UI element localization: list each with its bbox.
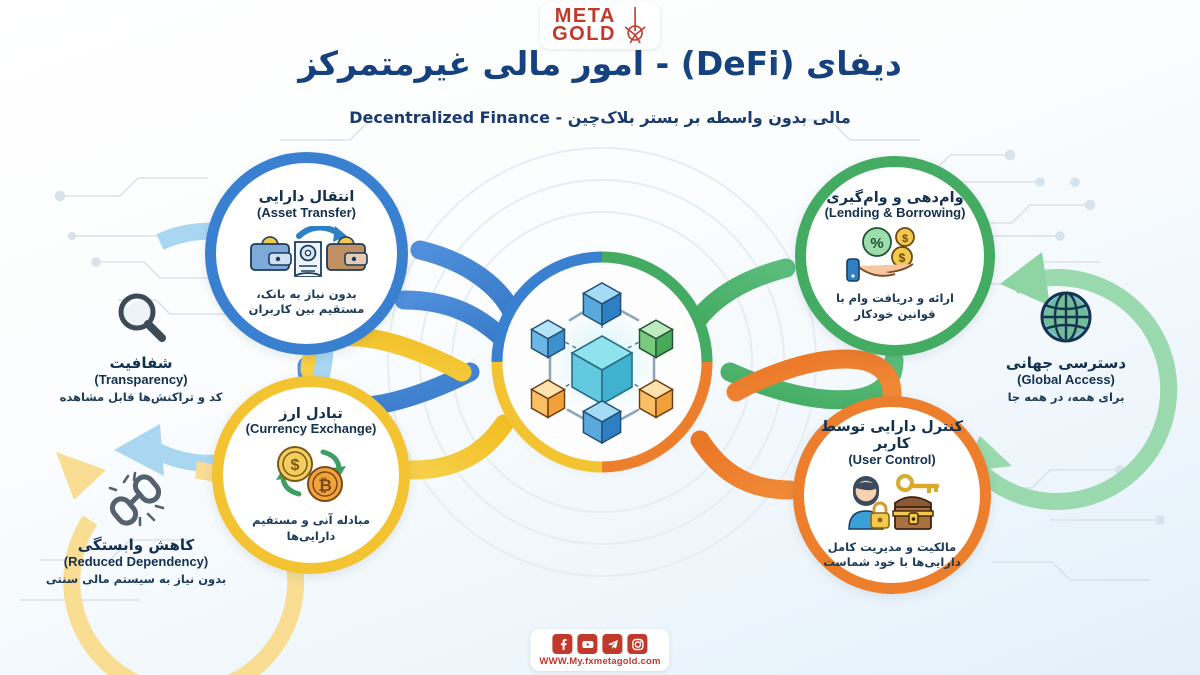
- node-desc-line2: مستقیم بین کاربران: [249, 302, 365, 318]
- footer-social-bar: WWW.My.fxmetagold.com: [530, 629, 669, 671]
- logo-text-gold: GOLD: [552, 25, 616, 43]
- brand-logo: META GOLD: [540, 2, 660, 49]
- node-title-en: (Lending & Borrowing): [825, 206, 966, 221]
- satellite-transparency[interactable]: شفافیت (Transparency) کد و تراکنش‌ها قاب…: [42, 290, 240, 405]
- node-title-en: (User Control): [848, 453, 935, 468]
- svg-text:$: $: [291, 457, 300, 474]
- page-subtitle: مالی بدون واسطه بر بستر بلاک‌چین - Decen…: [0, 108, 1200, 127]
- magnifier-icon: [112, 290, 170, 350]
- social-icons-row: [553, 634, 648, 654]
- satellite-desc: برای همه، در همه جا: [1008, 390, 1125, 405]
- coin-swap-icon: $ ₿: [265, 442, 357, 508]
- globe-icon: [1037, 290, 1095, 350]
- center-hub: [498, 258, 706, 466]
- node-lending-borrowing[interactable]: وام‌دهی و وام‌گیری (Lending & Borrowing)…: [795, 156, 995, 356]
- youtube-icon[interactable]: [578, 634, 598, 654]
- satellite-global-access[interactable]: دسترسی جهانی (Global Access) برای همه، د…: [966, 290, 1166, 405]
- metagold-mark-icon: [622, 5, 648, 45]
- svg-text:$: $: [899, 251, 906, 265]
- satellite-desc: کد و تراکنش‌ها قابل مشاهده: [60, 390, 223, 405]
- node-desc-line2: قوانین خودکار: [854, 307, 935, 323]
- satellite-title-en: (Reduced Dependency): [64, 554, 208, 570]
- node-user-control[interactable]: کنترل دارایی توسط کاربر (User Control): [793, 396, 991, 594]
- telegram-icon[interactable]: [603, 634, 623, 654]
- page-title: دیفای (DeFi) - امور مالی غیرمتمرکز: [0, 44, 1200, 83]
- node-desc-line2: دارایی‌ها: [287, 529, 336, 545]
- satellite-title-fa: دسترسی جهانی: [1006, 354, 1126, 372]
- infographic-canvas: META GOLD دیفای (DeFi) - امور مالی غیرمت…: [0, 0, 1200, 675]
- node-title-en: (Currency Exchange): [246, 422, 377, 437]
- svg-text:%: %: [870, 235, 883, 252]
- satellite-desc: بدون نیاز به سیستم مالی سنتی: [46, 572, 226, 587]
- svg-text:₿: ₿: [318, 476, 332, 495]
- node-title-fa: تبادل ارز: [279, 406, 343, 423]
- instagram-icon[interactable]: [628, 634, 648, 654]
- satellite-title-fa: شفافیت: [110, 354, 173, 372]
- node-desc-line1: مبادله آنی و مستقیم: [252, 513, 370, 529]
- node-title-en: (Asset Transfer): [257, 206, 356, 221]
- broken-chain-icon: [104, 470, 168, 532]
- node-desc-line2: دارایی‌ها با خود شماست: [823, 555, 961, 571]
- svg-text:$: $: [902, 233, 908, 245]
- node-title-fa: کنترل دارایی توسط کاربر: [804, 419, 980, 452]
- wallet-transfer-icon: [243, 226, 371, 282]
- user-key-chest-icon: [839, 473, 945, 535]
- node-title-fa: وام‌دهی و وام‌گیری: [826, 190, 963, 207]
- node-desc-line1: مالکیت و مدیریت کامل: [828, 540, 957, 556]
- satellite-title-fa: کاهش وابستگی: [78, 536, 195, 554]
- node-desc-line1: ارائه و دریافت وام با: [836, 291, 954, 307]
- website-url: WWW.My.fxmetagold.com: [539, 656, 660, 667]
- satellite-title-en: (Global Access): [1017, 372, 1115, 388]
- hand-coins-percent-icon: % $ $: [843, 226, 947, 286]
- node-desc-line1: بدون نیاز به بانک،: [256, 287, 356, 303]
- facebook-icon[interactable]: [553, 634, 573, 654]
- node-title-fa: انتقال دارایی: [259, 189, 355, 206]
- satellite-reduced-dependency[interactable]: کاهش وابستگی (Reduced Dependency) بدون ن…: [30, 470, 242, 587]
- satellite-title-en: (Transparency): [94, 372, 187, 388]
- hub-quadrant-ring-icon: [489, 249, 715, 475]
